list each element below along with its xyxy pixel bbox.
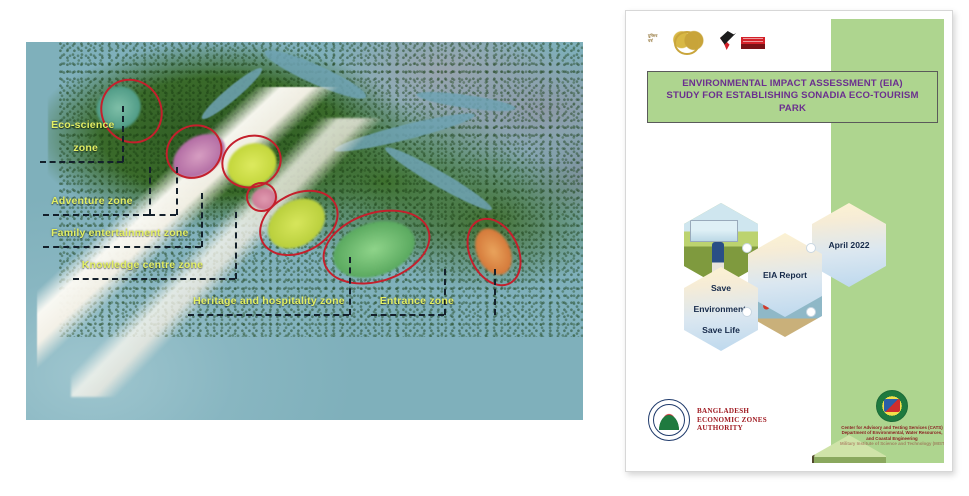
zone-label-adventure: Adventure zone <box>51 195 133 207</box>
mujib-logo-caption: মুজিব বর্ষ <box>648 33 670 43</box>
zone-label-eco-science-line1: Eco-science <box>51 119 114 131</box>
bird-glyph <box>720 30 742 50</box>
hex-connector-dot <box>806 307 816 317</box>
mujib-caption-line2: বর্ষ <box>648 38 653 43</box>
leader-adventure-2 <box>149 214 177 216</box>
report-title-banner: ENVIRONMENTAL IMPACT ASSESSMENT (EIA) ST… <box>647 71 938 123</box>
eia-report-cover-page: মুজিব বর্ষ ENVIRONMENTAL IMPACT ASSESSME… <box>625 10 953 472</box>
hexagon-date: April 2022 <box>812 203 886 287</box>
cover-hexagon-cluster: April 2022 EIA Report Save Environment, … <box>684 169 914 369</box>
hexagon-date-label: April 2022 <box>824 240 873 251</box>
leader-heritage-v <box>349 257 351 314</box>
slogan-line1: Save <box>690 283 753 294</box>
report-title-line1: ENVIRONMENTAL IMPACT ASSESSMENT (EIA) <box>654 78 931 90</box>
hex-connector-dot <box>742 243 752 253</box>
leader-entrance-v <box>444 269 446 315</box>
report-title-line3: PARK <box>654 103 931 115</box>
leader-knowledge-v <box>235 212 237 279</box>
leader-family <box>43 246 202 248</box>
cats-line4: Military Institute of Science and Techno… <box>840 441 944 447</box>
zone-label-heritage: Heritage and hospitality zone <box>193 295 345 307</box>
cats-mist-block: Center for Advisory and Testing Services… <box>840 390 944 447</box>
cats-line2: Department of Environmental, Water Resou… <box>840 430 944 436</box>
leader-entrance <box>371 314 443 316</box>
hexagon-eia-report-label: EIA Report <box>759 270 811 281</box>
beza-logo-block: BANGLADESH ECONOMIC ZONES AUTHORITY <box>648 399 767 441</box>
beza-seal-icon <box>648 399 690 441</box>
leader-knowledge <box>73 278 235 280</box>
leader-family-v <box>201 193 203 247</box>
leader-adventure-v <box>149 167 151 215</box>
leader-entrance-v2 <box>494 269 496 315</box>
hex-connector-dot <box>806 243 816 253</box>
leader-adventure-v2 <box>176 167 178 215</box>
leader-eco-science-v <box>122 106 124 162</box>
zone-label-eco-science-line2: zone <box>73 142 98 154</box>
bangladesh-flag-glyph <box>741 37 765 49</box>
zone-label-entrance: Entrance zone <box>380 295 454 307</box>
leader-eco-science <box>40 161 124 163</box>
mujib-50-icon: মুজিব বর্ষ <box>648 27 706 55</box>
zone-label-knowledge: Knowledge centre zone <box>82 259 203 271</box>
sonadia-zoning-map-figure: Eco-science zone Adventure zone Family e… <box>26 42 583 420</box>
zone-label-family: Family entertainment zone <box>51 227 188 239</box>
beza-line1: BANGLADESH <box>697 407 767 415</box>
leader-adventure <box>43 214 149 216</box>
mist-seal-icon <box>876 390 908 422</box>
beza-line3: AUTHORITY <box>697 424 767 432</box>
report-title-line2: STUDY FOR ESTABLISHING SONADIA ECO-TOURI… <box>654 90 931 102</box>
slogan-line3: Save Life <box>690 325 753 336</box>
leader-heritage <box>188 314 350 316</box>
bangladesh-bird-icon <box>720 28 766 54</box>
hex-connector-dot <box>742 307 752 317</box>
mujib-50-emblem <box>668 28 704 54</box>
cover-logo-row: মুজিব বর্ষ <box>648 25 766 57</box>
beza-line2: ECONOMIC ZONES <box>697 416 767 424</box>
cover-content-area: মুজিব বর্ষ ENVIRONMENTAL IMPACT ASSESSME… <box>634 19 944 463</box>
beza-logo-text: BANGLADESH ECONOMIC ZONES AUTHORITY <box>697 407 767 432</box>
